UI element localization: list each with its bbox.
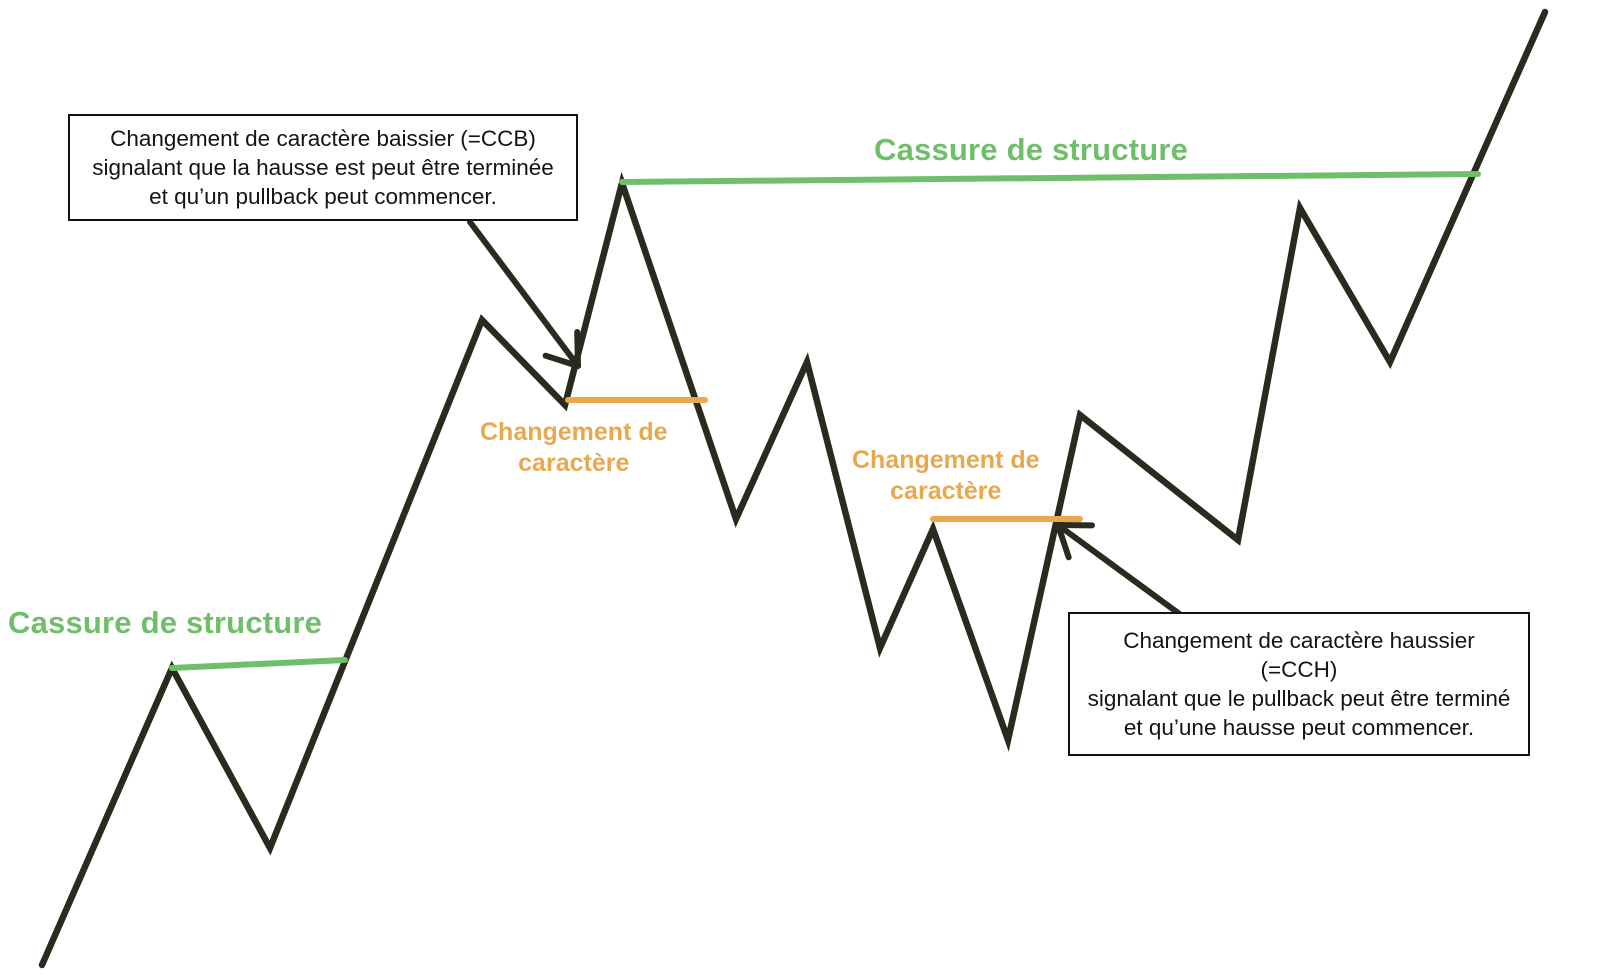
- break-of-structure-label-upper-right: Cassure de structure: [874, 132, 1188, 168]
- diagram-canvas: Cassure de structure Cassure de structur…: [0, 0, 1600, 976]
- bos-line-lower-left: [172, 660, 345, 668]
- change-of-character-label-left: Changement de caractère: [480, 417, 668, 478]
- arrow-to-ccb-icon: [470, 222, 578, 366]
- change-of-character-label-right: Changement de caractère: [852, 445, 1040, 506]
- bos-line-upper-right: [622, 174, 1478, 182]
- arrow-to-cch-icon: [1058, 525, 1185, 618]
- callout-bearish-change-of-character: Changement de caractère baissier (=CCB) …: [68, 114, 578, 221]
- callout-bullish-change-of-character: Changement de caractère haussier (=CCH) …: [1068, 612, 1530, 756]
- break-of-structure-label-lower-left: Cassure de structure: [8, 605, 322, 641]
